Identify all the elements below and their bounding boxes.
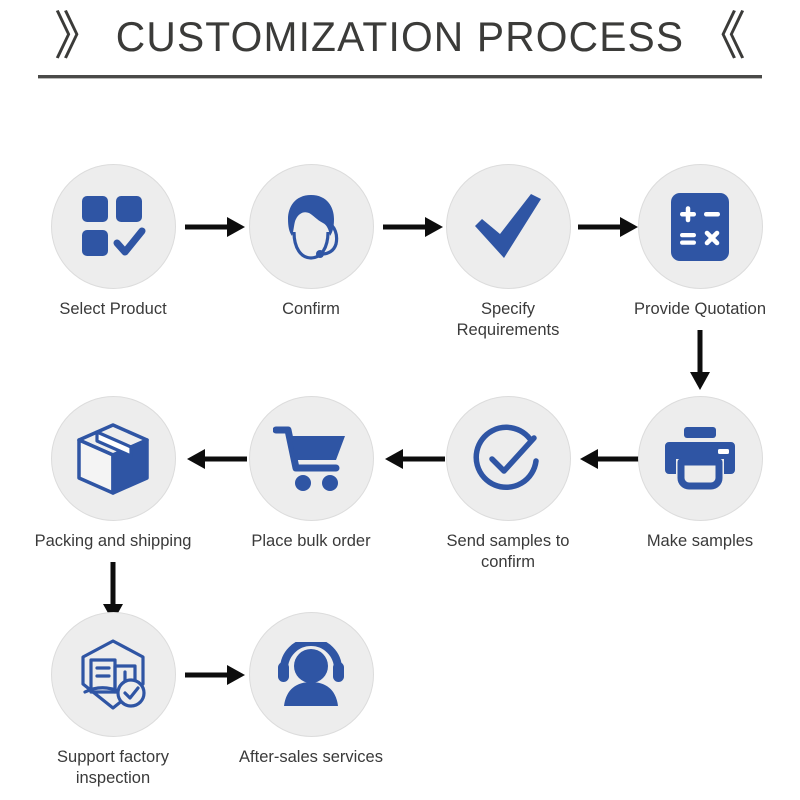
shopping-cart-icon bbox=[273, 424, 349, 494]
step-node-make-samples[interactable]: Make samples bbox=[620, 396, 780, 552]
step-icon-circle bbox=[51, 612, 176, 737]
step-icon-circle bbox=[638, 396, 763, 521]
connector-arrow-down bbox=[683, 330, 717, 392]
process-flow-diagram: Select Product Confirm bbox=[0, 0, 800, 800]
grid-check-icon bbox=[80, 194, 146, 260]
calculator-icon bbox=[669, 191, 731, 263]
step-node-confirm[interactable]: Confirm bbox=[231, 164, 391, 320]
step-label: Select Product bbox=[33, 299, 193, 320]
checkmark-icon bbox=[471, 192, 545, 262]
step-node-select-product[interactable]: Select Product bbox=[33, 164, 193, 320]
step-label: Send samples to confirm bbox=[428, 531, 588, 573]
step-node-send-samples-to-confirm[interactable]: Send samples to confirm bbox=[428, 396, 588, 573]
customer-support-icon bbox=[274, 642, 348, 708]
step-node-after-sales-services[interactable]: After-sales services bbox=[231, 612, 391, 768]
step-label: Packing and shipping bbox=[33, 531, 193, 552]
printer-icon bbox=[664, 426, 736, 492]
circle-check-icon bbox=[470, 421, 546, 497]
step-label: Make samples bbox=[620, 531, 780, 552]
step-node-packing-and-shipping[interactable]: Packing and shipping bbox=[33, 396, 193, 552]
step-icon-circle bbox=[51, 396, 176, 521]
step-label: Support factory inspection bbox=[33, 747, 193, 789]
step-icon-circle bbox=[446, 396, 571, 521]
step-node-support-factory-inspection[interactable]: Support factory inspection bbox=[33, 612, 193, 789]
step-icon-circle bbox=[249, 612, 374, 737]
step-icon-circle bbox=[446, 164, 571, 289]
step-label: Place bulk order bbox=[231, 531, 391, 552]
step-label: Specify Requirements bbox=[428, 299, 588, 341]
box-package-icon bbox=[75, 421, 151, 497]
factory-shield-check-icon bbox=[75, 638, 151, 712]
step-node-provide-quotation[interactable]: Provide Quotation bbox=[620, 164, 780, 320]
headset-agent-icon bbox=[276, 192, 346, 262]
step-icon-circle bbox=[249, 396, 374, 521]
step-icon-circle bbox=[249, 164, 374, 289]
step-label: Provide Quotation bbox=[620, 299, 780, 320]
step-node-specify-requirements[interactable]: Specify Requirements bbox=[428, 164, 588, 341]
step-icon-circle bbox=[51, 164, 176, 289]
step-label: After-sales services bbox=[231, 747, 391, 768]
step-icon-circle bbox=[638, 164, 763, 289]
step-node-place-bulk-order[interactable]: Place bulk order bbox=[231, 396, 391, 552]
step-label: Confirm bbox=[231, 299, 391, 320]
